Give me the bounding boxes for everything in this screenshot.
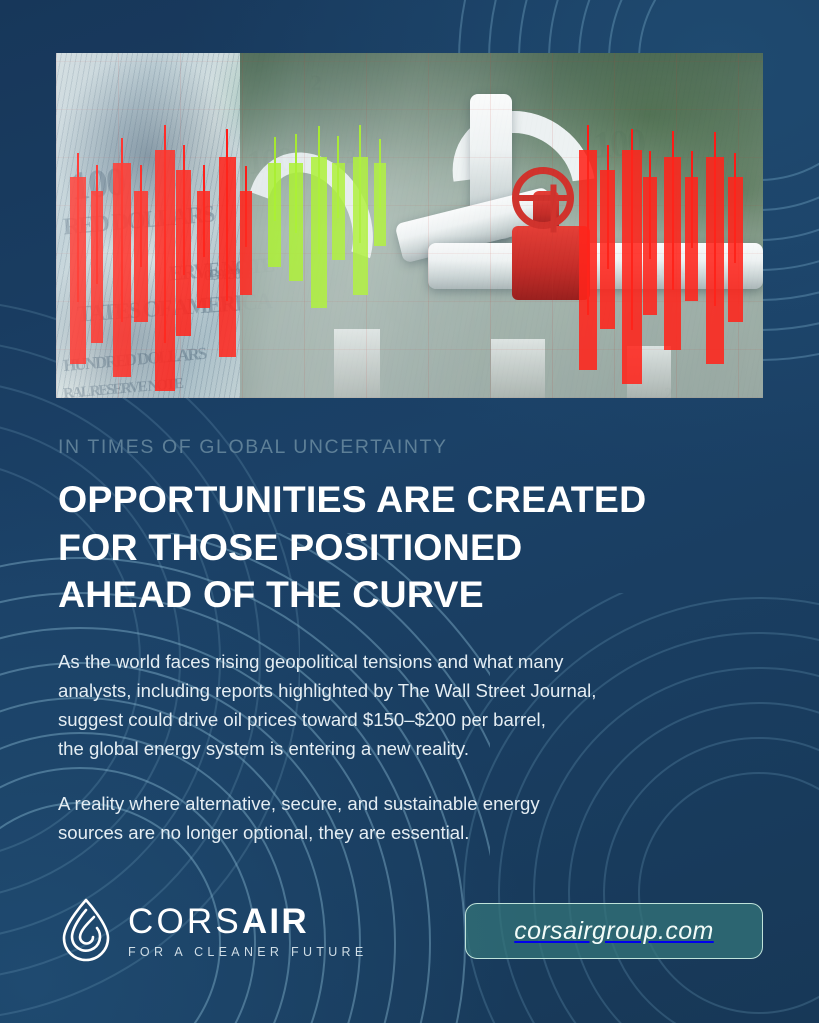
body-copy: As the world faces rising geopolitical t… [58,647,778,847]
headline-line-1: OPPORTUNITIES ARE CREATED [58,476,778,523]
hero-sheen [56,53,763,398]
footer: CORSAIR FOR A CLEANER FUTURE corsairgrou… [58,897,763,973]
eyebrow-text: IN TIMES OF GLOBAL UNCERTAINTY [58,436,778,459]
brand-tagline: FOR A CLEANER FUTURE [128,946,368,959]
paragraph-line: analysts, including reports highlighted … [58,676,778,705]
droplet-logo-icon [58,897,114,963]
paragraph-line: As the world faces rising geopolitical t… [58,647,778,676]
paragraph: A reality where alternative, secure, and… [58,789,778,847]
brand-name-light: CORS [128,902,242,941]
paragraph-line: suggest could drive oil prices toward $1… [58,705,778,734]
website-cta-button[interactable]: corsairgroup.com [465,903,763,959]
brand-lockup: CORSAIR FOR A CLEANER FUTURE [58,897,368,963]
brand-name: CORSAIR [128,904,368,939]
paragraph-line: sources are no longer optional, they are… [58,818,778,847]
headline-line-2: FOR THOSE POSITIONED [58,524,778,571]
content-block: IN TIMES OF GLOBAL UNCERTAINTY OPPORTUNI… [58,436,778,847]
paragraph-line: A reality where alternative, secure, and… [58,789,778,818]
headline-line-3: AHEAD OF THE CURVE [58,571,778,618]
paragraph-line: the global energy system is entering a n… [58,734,778,763]
hero-composite-image: 100100100100RED DOLLARSTATES OF AMERICAE… [56,53,763,398]
page-title: OPPORTUNITIES ARE CREATED FOR THOSE POSI… [58,476,778,618]
brand-wordmark: CORSAIR FOR A CLEANER FUTURE [128,902,368,959]
poster-canvas: 100100100100RED DOLLARSTATES OF AMERICAE… [0,0,819,1023]
brand-name-bold: AIR [242,902,309,941]
website-cta-label: corsairgroup.com [514,917,714,946]
paragraph: As the world faces rising geopolitical t… [58,647,778,763]
